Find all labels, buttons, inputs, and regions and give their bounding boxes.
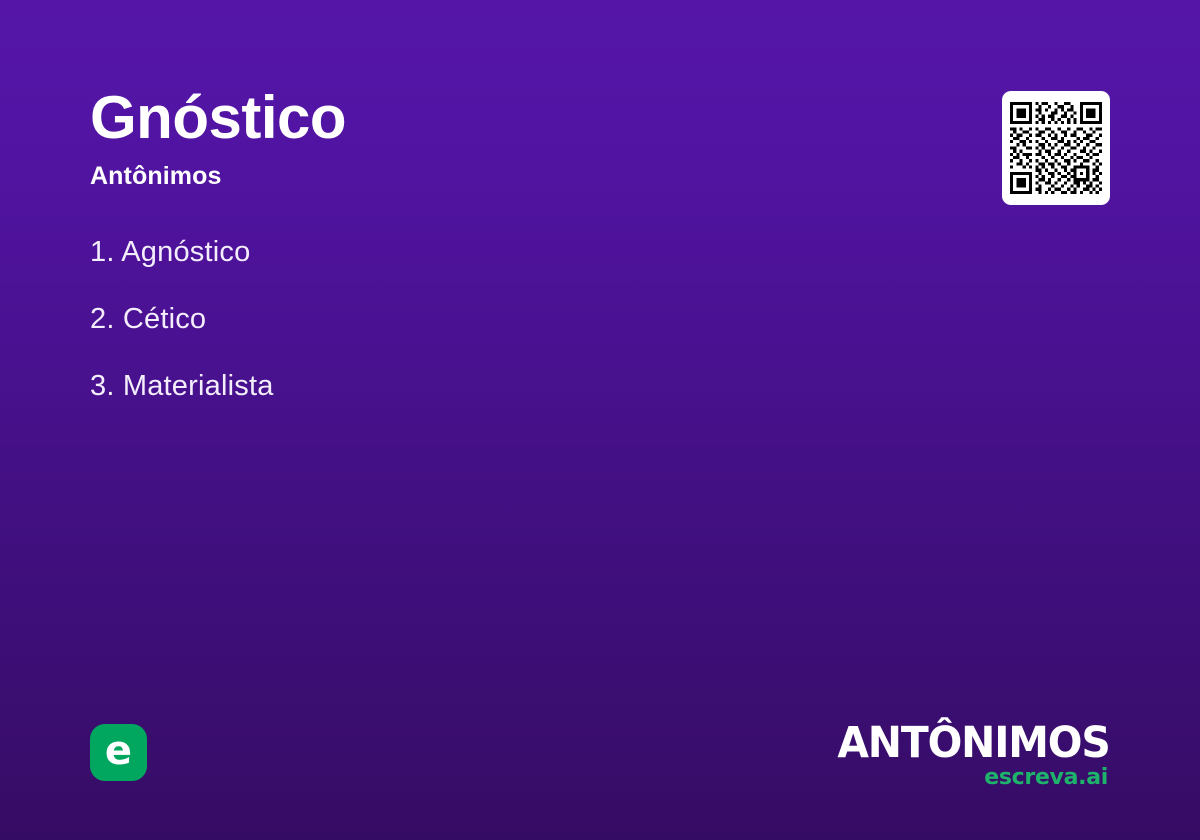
wordmark-main: ANTÔNIMOS <box>838 722 1110 765</box>
list-item-word: Agnóstico <box>121 236 250 268</box>
brand-badge-letter: e <box>105 731 132 771</box>
qr-code-icon <box>1010 102 1102 194</box>
list-item-index: 1. <box>90 236 115 268</box>
list-item: 3. Materialista <box>90 372 910 401</box>
page-subtitle: Antônimos <box>90 161 890 191</box>
list-item: 1. Agnóstico <box>90 238 910 267</box>
brand-wordmark: ANTÔNIMOS escreva.ai <box>823 722 1110 789</box>
list-item-index: 2. <box>90 303 115 335</box>
antonyms-card: Gnóstico Antônimos 1. Agnóstico 2. Cétic… <box>0 0 1200 840</box>
list-item-index: 3. <box>90 370 115 402</box>
escreva-logo-icon[interactable]: e <box>90 724 147 781</box>
list-item-word: Materialista <box>123 370 274 402</box>
wordmark-sub: escreva.ai <box>823 767 1108 789</box>
antonym-list: 1. Agnóstico 2. Cético 3. Materialista <box>90 238 910 439</box>
headline-block: Gnóstico Antônimos <box>90 86 890 191</box>
list-item: 2. Cético <box>90 305 910 334</box>
qr-code-card[interactable] <box>1002 91 1110 205</box>
page-title: Gnóstico <box>90 86 890 151</box>
list-item-word: Cético <box>123 303 206 335</box>
